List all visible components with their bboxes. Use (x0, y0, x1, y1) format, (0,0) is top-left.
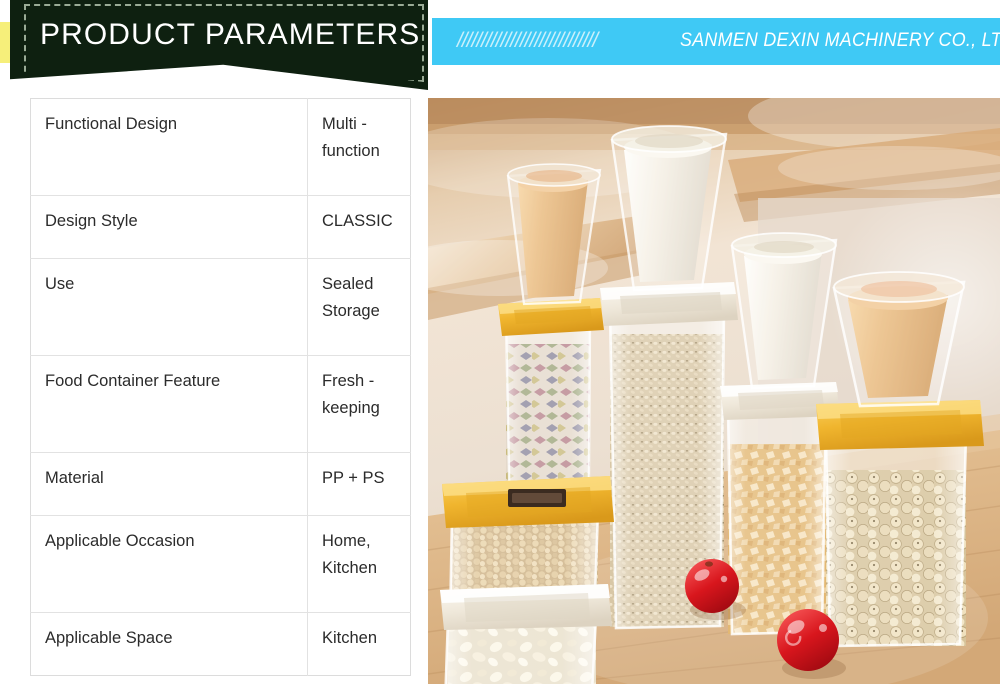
table-row: Applicable Occasion Home, Kitchen (31, 515, 411, 612)
spec-value: Sealed Storage (308, 259, 411, 356)
page-title: PRODUCT PARAMETERS (40, 18, 428, 52)
product-parameters-table: Functional Design Multi - function Desig… (30, 98, 411, 676)
spec-label: Material (31, 452, 308, 515)
spec-value: Multi - function (308, 99, 411, 196)
spec-label: Design Style (31, 195, 308, 258)
spec-label: Food Container Feature (31, 355, 308, 452)
product-photo (428, 98, 1000, 684)
title-banner: PRODUCT PARAMETERS (10, 0, 428, 90)
garlic-container (440, 584, 612, 684)
table-row: Material PP + PS (31, 452, 411, 515)
spec-value: PP + PS (308, 452, 411, 515)
table-row: Food Container Feature Fresh - keeping (31, 355, 411, 452)
table-row: Functional Design Multi - function (31, 99, 411, 196)
company-bar: ///////////////////////////// SANMEN DEX… (432, 18, 1000, 65)
spec-value: Home, Kitchen (308, 515, 411, 612)
product-photo-illustration (428, 98, 1000, 684)
product-parameters-page: PRODUCT PARAMETERS /////////////////////… (0, 0, 1000, 684)
spec-label: Functional Design (31, 99, 308, 196)
table-row: Use Sealed Storage (31, 259, 411, 356)
diagonal-slashes-decoration: ///////////////////////////// (457, 31, 597, 51)
spec-value: Fresh - keeping (308, 355, 411, 452)
spec-label: Applicable Space (31, 612, 308, 675)
spec-label: Use (31, 259, 308, 356)
table-row: Design Style CLASSIC (31, 195, 411, 258)
spec-value: CLASSIC (308, 195, 411, 258)
company-name: SANMEN DEXIN MACHINERY CO., LTD . (680, 30, 1000, 52)
spec-value: Kitchen (308, 612, 411, 675)
table-row: Applicable Space Kitchen (31, 612, 411, 675)
spec-label: Applicable Occasion (31, 515, 308, 612)
